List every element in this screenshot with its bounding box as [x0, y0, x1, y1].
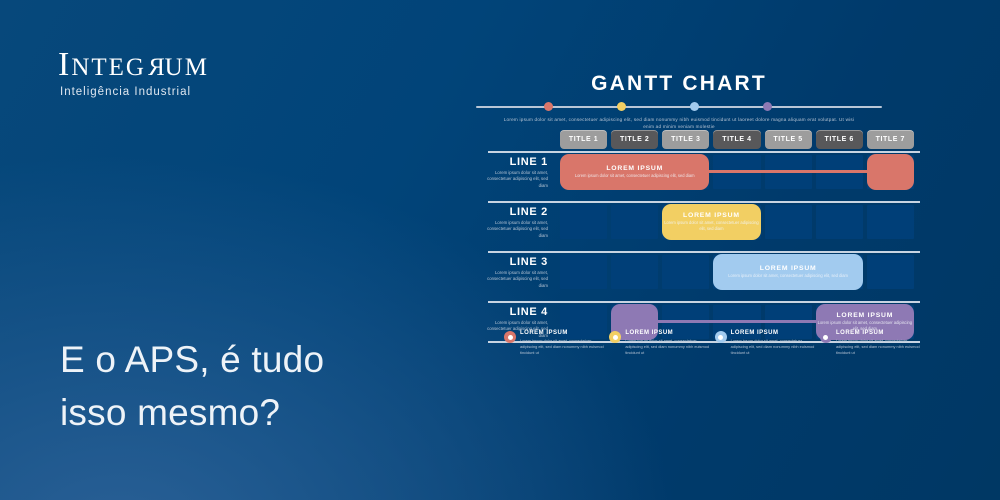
row-bars-2: LOREM IPSUMLorem ipsum dolor sit amet, c…	[558, 202, 916, 242]
legend-text-4: LOREM IPSUMLorem ipsum dolor sit amet, c…	[836, 330, 920, 356]
gantt-legend: LOREM IPSUMLorem ipsum dolor sit amet, c…	[504, 330, 920, 356]
page-headline: E o APS, é tudo isso mesmo?	[60, 334, 324, 439]
legend-desc-1: Lorem ipsum dolor sit amet, consectetuer…	[520, 338, 604, 356]
gantt-bar-desc-r2-1: Lorem ipsum dolor sit amet, consectetuer…	[662, 220, 760, 232]
brand-tagline: Inteligência Industrial	[60, 86, 209, 98]
row-label-name-2: LINE 2	[480, 206, 548, 218]
legend-item-2[interactable]: LOREM IPSUMLorem ipsum dolor sit amet, c…	[609, 330, 709, 356]
gantt-column-headers: TITLE 1TITLE 2TITLE 3TITLE 4TITLE 5TITLE…	[558, 130, 916, 149]
timeline-dot-1	[544, 102, 553, 111]
column-header-cell-3: TITLE 3	[660, 130, 711, 149]
legend-dot-icon-2	[609, 331, 621, 343]
legend-item-4[interactable]: LOREM IPSUMLorem ipsum dolor sit amet, c…	[820, 330, 920, 356]
row-label-1: LINE 1Lorem ipsum dolor sit amet, consec…	[480, 156, 548, 189]
column-header-cell-7: TITLE 7	[865, 130, 916, 149]
gantt-timeline-rule	[438, 102, 920, 112]
legend-text-2: LOREM IPSUMLorem ipsum dolor sit amet, c…	[625, 330, 709, 356]
timeline-dot-4	[763, 102, 772, 111]
row-bars-1: LOREM IPSUMLorem ipsum dolor sit amet, c…	[558, 152, 916, 192]
gantt-row-3: LINE 3Lorem ipsum dolor sit amet, consec…	[480, 252, 920, 292]
gantt-row-1: LINE 1Lorem ipsum dolor sit amet, consec…	[480, 152, 920, 192]
gantt-bar-r3-1[interactable]: LOREM IPSUMLorem ipsum dolor sit amet, c…	[713, 254, 862, 290]
column-header-cell-6: TITLE 6	[814, 130, 865, 149]
headline-line-2: isso mesmo?	[60, 387, 324, 440]
legend-dot-icon-4	[820, 331, 832, 343]
gantt-bar-label-r2-1: LOREM IPSUM	[683, 212, 740, 219]
legend-dot-icon-1	[504, 331, 516, 343]
row-connector-1	[705, 170, 870, 173]
row-label-3: LINE 3Lorem ipsum dolor sit amet, consec…	[480, 256, 548, 289]
column-header-button-2[interactable]: TITLE 2	[611, 130, 658, 149]
column-header-button-6[interactable]: TITLE 6	[816, 130, 863, 149]
legend-dot-icon-3	[715, 331, 727, 343]
row-label-desc-2: Lorem ipsum dolor sit amet, consectetuer…	[480, 220, 548, 239]
row-label-desc-3: Lorem ipsum dolor sit amet, consectetuer…	[480, 270, 548, 289]
gantt-bar-r1-2[interactable]	[867, 154, 914, 190]
column-header-cell-2: TITLE 2	[609, 130, 660, 149]
row-connector-4	[654, 320, 819, 323]
brand-reversed-r: R	[146, 55, 165, 80]
gantt-bar-label-r1-1: LOREM IPSUM	[606, 165, 663, 172]
column-header-button-7[interactable]: TITLE 7	[867, 130, 914, 149]
column-header-button-4[interactable]: TITLE 4	[713, 130, 760, 149]
gantt-bar-label-r3-1: LOREM IPSUM	[760, 265, 817, 272]
gantt-bar-desc-r1-1: Lorem ipsum dolor sit amet, consectetuer…	[575, 173, 695, 179]
gantt-subtitle: Lorem ipsum dolor sit amet, consectetuer…	[438, 116, 920, 130]
timeline-dot-2	[617, 102, 626, 111]
gantt-bar-label-r4-2: LOREM IPSUM	[836, 312, 893, 319]
column-header-button-5[interactable]: TITLE 5	[765, 130, 812, 149]
legend-label-4: LOREM IPSUM	[836, 330, 920, 336]
legend-item-1[interactable]: LOREM IPSUMLorem ipsum dolor sit amet, c…	[504, 330, 604, 356]
brand-wordmark: INTEGRUM	[58, 48, 209, 82]
timeline-dot-3	[690, 102, 699, 111]
brand-name-part-b: UM	[165, 54, 209, 81]
gantt-grid: LINE 1Lorem ipsum dolor sit amet, consec…	[480, 152, 920, 352]
gantt-title: GANTT CHART	[438, 72, 920, 96]
legend-desc-2: Lorem ipsum dolor sit amet, consectetuer…	[625, 338, 709, 356]
row-label-desc-1: Lorem ipsum dolor sit amet, consectetuer…	[480, 170, 548, 189]
row-label-name-1: LINE 1	[480, 156, 548, 168]
row-label-2: LINE 2Lorem ipsum dolor sit amet, consec…	[480, 206, 548, 239]
column-header-cell-1: TITLE 1	[558, 130, 609, 149]
legend-desc-4: Lorem ipsum dolor sit amet, consectetuer…	[836, 338, 920, 356]
legend-text-1: LOREM IPSUMLorem ipsum dolor sit amet, c…	[520, 330, 604, 356]
legend-label-1: LOREM IPSUM	[520, 330, 604, 336]
row-bars-3: LOREM IPSUMLorem ipsum dolor sit amet, c…	[558, 252, 916, 292]
row-label-name-3: LINE 3	[480, 256, 548, 268]
column-header-cell-5: TITLE 5	[763, 130, 814, 149]
brand-initial: I	[58, 46, 71, 83]
gantt-bar-r2-1[interactable]: LOREM IPSUMLorem ipsum dolor sit amet, c…	[662, 204, 760, 240]
row-label-name-4: LINE 4	[480, 306, 548, 318]
legend-item-3[interactable]: LOREM IPSUMLorem ipsum dolor sit amet, c…	[715, 330, 815, 356]
column-header-button-1[interactable]: TITLE 1	[560, 130, 607, 149]
legend-text-3: LOREM IPSUMLorem ipsum dolor sit amet, c…	[731, 330, 815, 356]
gantt-row-2: LINE 2Lorem ipsum dolor sit amet, consec…	[480, 202, 920, 242]
brand-name-part-a: NTEG	[71, 54, 146, 81]
gantt-bar-desc-r3-1: Lorem ipsum dolor sit amet, consectetuer…	[728, 273, 848, 279]
brand-logo: INTEGRUM Inteligência Industrial	[58, 48, 209, 98]
headline-line-1: E o APS, é tudo	[60, 334, 324, 387]
legend-label-2: LOREM IPSUM	[625, 330, 709, 336]
timeline-bar	[476, 106, 882, 108]
legend-desc-3: Lorem ipsum dolor sit amet, consectetuer…	[731, 338, 815, 356]
gantt-bar-r1-1[interactable]: LOREM IPSUMLorem ipsum dolor sit amet, c…	[560, 154, 709, 190]
legend-label-3: LOREM IPSUM	[731, 330, 815, 336]
gantt-chart-graphic: GANTT CHART Lorem ipsum dolor sit amet, …	[480, 72, 920, 362]
column-header-cell-4: TITLE 4	[711, 130, 762, 149]
column-header-button-3[interactable]: TITLE 3	[662, 130, 709, 149]
